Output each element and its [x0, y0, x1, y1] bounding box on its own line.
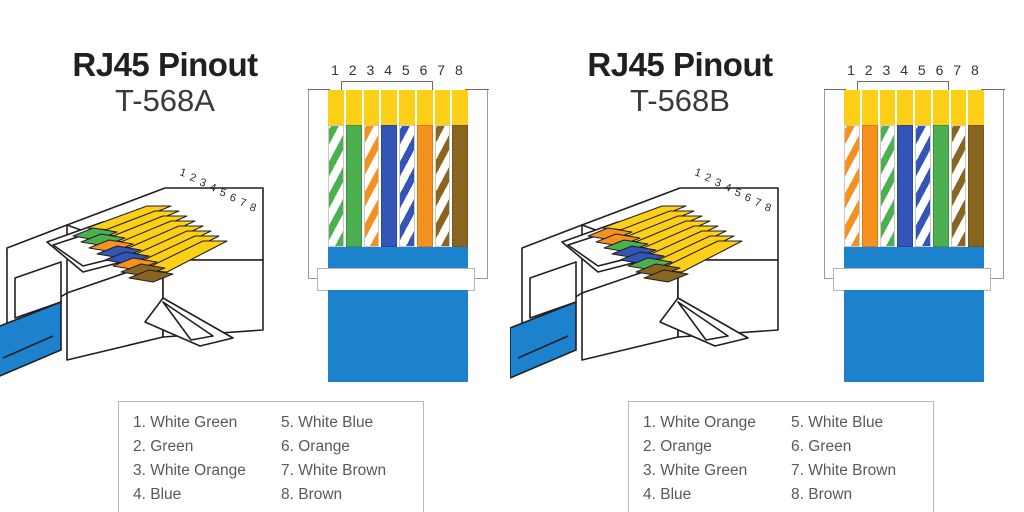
- gold-pin-6: [417, 90, 433, 125]
- pin-number-5: 5: [399, 62, 413, 78]
- svg-text:2: 2: [703, 171, 713, 184]
- bracket-left-lead-b: [824, 89, 846, 90]
- cable-jacket-top-b: [844, 247, 984, 269]
- legend-item: 1. White Orange: [643, 411, 791, 435]
- gold-pins-row-a: [328, 90, 468, 125]
- legend-item: 8. Brown: [791, 483, 919, 507]
- legend-item: 6. Green: [791, 435, 919, 459]
- legend-item: 5. White Blue: [281, 411, 409, 435]
- connector-front-view-t568b: 1 2 3 4 5 6 7 8: [836, 62, 991, 372]
- pin-number-7: 7: [434, 62, 448, 78]
- gold-pin-8: [452, 90, 468, 125]
- wires-row-b: [844, 125, 984, 247]
- bracket-right-lead-a: [465, 89, 489, 90]
- wires-row-a: [328, 125, 468, 247]
- legend-item: 2. Green: [133, 435, 281, 459]
- wire-7: [951, 125, 967, 247]
- page-subtitle-t568a: T-568A: [20, 83, 310, 119]
- legend-column-right-b: 5. White Blue 6. Green 7. White Brown 8.…: [791, 411, 919, 507]
- legend-column-right-a: 5. White Blue 6. Orange 7. White Brown 8…: [281, 411, 409, 507]
- gold-pin-4: [381, 90, 397, 125]
- cable-white-band-a: [317, 268, 475, 291]
- svg-text:1: 1: [693, 166, 703, 179]
- gold-pin-3: [880, 90, 896, 125]
- connector-3d-svg-a: 1 2 3 4 5 6 7 8: [0, 150, 295, 380]
- connector-perspective-t568a: 1 2 3 4 5 6 7 8: [0, 150, 295, 380]
- gold-pin-3: [364, 90, 380, 125]
- wire-6: [417, 125, 433, 247]
- pin-number-7: 7: [950, 62, 964, 78]
- legend-item: 7. White Brown: [791, 459, 919, 483]
- connector-perspective-t568b: 1 2 3 4 5 6 7 8: [510, 150, 810, 380]
- gold-pin-7: [951, 90, 967, 125]
- page-title-t568b: RJ45 Pinout: [535, 48, 825, 83]
- gold-pin-1: [844, 90, 860, 125]
- gold-pin-7: [435, 90, 451, 125]
- title-block-t568b: RJ45 Pinout T-568B: [535, 48, 825, 118]
- gold-pin-1: [328, 90, 344, 125]
- wire-5: [399, 125, 415, 247]
- cable-jacket-top-a: [328, 247, 468, 269]
- pin-number-5: 5: [915, 62, 929, 78]
- page-subtitle-t568b: T-568B: [535, 83, 825, 119]
- pin-number-4: 4: [897, 62, 911, 78]
- pin-number-8: 8: [452, 62, 466, 78]
- legend-item: 1. White Green: [133, 411, 281, 435]
- pin-number-3: 3: [363, 62, 377, 78]
- pin-number-4: 4: [381, 62, 395, 78]
- pin-number-1: 1: [328, 62, 342, 78]
- pin-bracket-a: [341, 81, 433, 90]
- wire-5: [915, 125, 931, 247]
- legend-item: 6. Orange: [281, 435, 409, 459]
- gold-pin-2: [346, 90, 362, 125]
- connector-front-view-t568a: 1 2 3 4 5 6 7 8: [320, 62, 475, 372]
- wire-1: [844, 125, 860, 247]
- pin-number-row-b: 1 2 3 4 5 6 7 8: [844, 62, 984, 82]
- legend-t568a: 1. White Green 2. Green 3. White Orange …: [118, 401, 424, 512]
- svg-text:1: 1: [178, 166, 188, 179]
- cable-jacket-body-b: [844, 290, 984, 382]
- bracket-right-lead-b: [981, 89, 1005, 90]
- gold-pins-row-b: [844, 90, 984, 125]
- gold-pin-8: [968, 90, 984, 125]
- legend-item: 3. White Orange: [133, 459, 281, 483]
- cable-jacket-body-a: [328, 290, 468, 382]
- bracket-left-lead-a: [308, 89, 330, 90]
- gold-pin-6: [933, 90, 949, 125]
- pin-bracket-b: [857, 81, 949, 90]
- legend-item: 3. White Green: [643, 459, 791, 483]
- wire-8: [968, 125, 984, 247]
- pin-number-2: 2: [862, 62, 876, 78]
- legend-item: 4. Blue: [643, 483, 791, 507]
- legend-item: 5. White Blue: [791, 411, 919, 435]
- title-block-t568a: RJ45 Pinout T-568A: [20, 48, 310, 118]
- legend-t568b: 1. White Orange 2. Orange 3. White Green…: [628, 401, 934, 512]
- legend-column-left-b: 1. White Orange 2. Orange 3. White Green…: [643, 411, 791, 507]
- page-title-t568a: RJ45 Pinout: [20, 48, 310, 83]
- pin-number-1: 1: [844, 62, 858, 78]
- pin-number-8: 8: [968, 62, 982, 78]
- legend-item: 2. Orange: [643, 435, 791, 459]
- wire-4: [381, 125, 397, 247]
- legend-item: 8. Brown: [281, 483, 409, 507]
- wire-2: [862, 125, 878, 247]
- cable-white-band-b: [833, 268, 991, 291]
- pin-number-row-a: 1 2 3 4 5 6 7 8: [328, 62, 468, 82]
- legend-column-left-a: 1. White Green 2. Green 3. White Orange …: [133, 411, 281, 507]
- wire-3: [880, 125, 896, 247]
- pin-number-6: 6: [417, 62, 431, 78]
- gold-pin-4: [897, 90, 913, 125]
- wire-3: [364, 125, 380, 247]
- connector-3d-svg-b: 1 2 3 4 5 6 7 8: [510, 150, 810, 380]
- wire-7: [435, 125, 451, 247]
- wire-6: [933, 125, 949, 247]
- pin-number-6: 6: [933, 62, 947, 78]
- wire-1: [328, 125, 344, 247]
- wire-4: [897, 125, 913, 247]
- legend-item: 7. White Brown: [281, 459, 409, 483]
- wire-2: [346, 125, 362, 247]
- pin-number-3: 3: [879, 62, 893, 78]
- wire-8: [452, 125, 468, 247]
- svg-text:2: 2: [188, 171, 198, 184]
- gold-pin-5: [399, 90, 415, 125]
- gold-pin-2: [862, 90, 878, 125]
- legend-item: 4. Blue: [133, 483, 281, 507]
- pin-number-2: 2: [346, 62, 360, 78]
- rj45-pinout-diagram: RJ45 Pinout T-568A: [0, 0, 1024, 512]
- gold-pin-5: [915, 90, 931, 125]
